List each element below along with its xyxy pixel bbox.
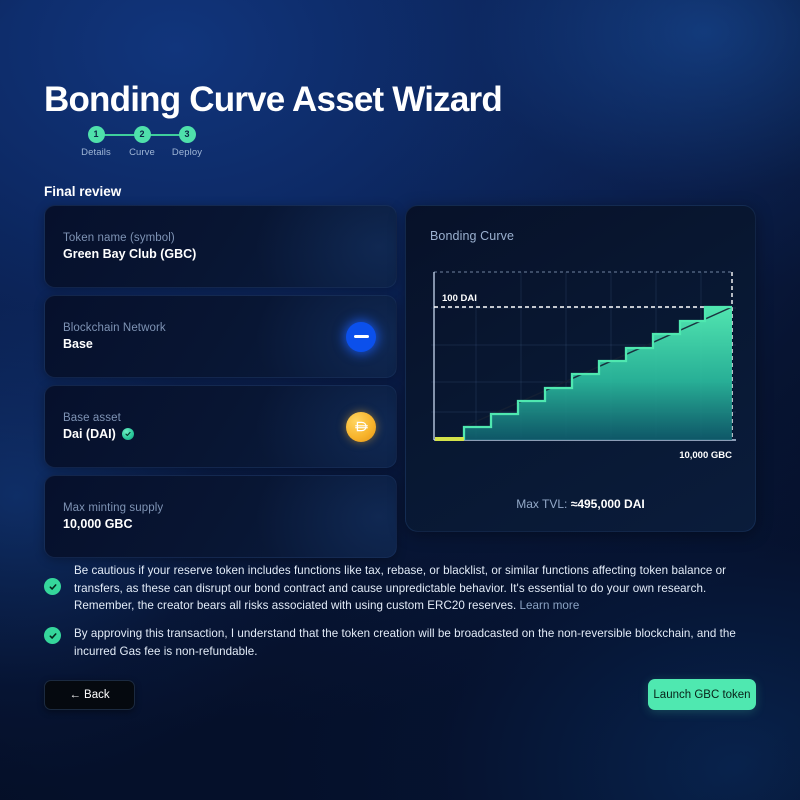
- review-card-token-name-value: Green Bay Club (GBC): [63, 247, 196, 261]
- stepper-step-2-number: 2: [134, 126, 151, 143]
- max-tvl-value: ≈495,000 DAI: [571, 497, 645, 511]
- review-card-blockchain-network[interactable]: Blockchain Network Base: [44, 295, 397, 378]
- bonding-curve-panel: Bonding Curve: [405, 205, 756, 532]
- bonding-curve-chart: 100 DAI 10,000 GBC: [406, 260, 756, 475]
- stepper-step-1-number: 1: [88, 126, 105, 143]
- chart-x-axis-label: 10,000 GBC: [679, 450, 732, 461]
- wizard-page: Bonding Curve Asset Wizard 1 Details 2 C…: [0, 0, 800, 800]
- review-card-max-supply-label: Max minting supply: [63, 502, 163, 514]
- verified-badge-icon: [122, 428, 134, 440]
- review-card-base-asset-label: Base asset: [63, 412, 134, 424]
- section-heading-final-review: Final review: [44, 184, 121, 199]
- launch-token-button[interactable]: Launch GBC token: [648, 679, 756, 710]
- dai-coin-icon: [346, 412, 376, 442]
- max-tvl-readout: Max TVL: ≈495,000 DAI: [406, 497, 755, 511]
- chart-y-axis-label: 100 DAI: [442, 293, 477, 304]
- chart-title: Bonding Curve: [430, 229, 514, 243]
- checkbox-checked-icon-approval[interactable]: [44, 627, 61, 644]
- review-card-max-supply-value: 10,000 GBC: [63, 517, 163, 531]
- checkbox-checked-icon-risk[interactable]: [44, 578, 61, 595]
- review-cards-list: Token name (symbol) Green Bay Club (GBC)…: [44, 205, 397, 565]
- consent-row-risk-disclaimer[interactable]: Be cautious if your reserve token includ…: [44, 562, 758, 615]
- consent-row-transaction-approval[interactable]: By approving this transaction, I underst…: [44, 625, 758, 660]
- consent-text-approval: By approving this transaction, I underst…: [74, 625, 758, 660]
- base-chain-icon: [346, 322, 376, 352]
- consent-text-risk-body: Be cautious if your reserve token includ…: [74, 564, 726, 612]
- review-card-token-name-label: Token name (symbol): [63, 232, 196, 244]
- back-button[interactable]: ← Back: [44, 680, 135, 710]
- review-card-network-value: Base: [63, 337, 166, 351]
- review-card-network-label: Blockchain Network: [63, 322, 166, 334]
- bonding-curve-svg: 100 DAI 10,000 GBC: [406, 260, 756, 475]
- wizard-stepper: 1 Details 2 Curve 3 Deploy: [44, 126, 224, 164]
- stepper-step-3-number: 3: [179, 126, 196, 143]
- consent-text-risk: Be cautious if your reserve token includ…: [74, 562, 758, 615]
- learn-more-link[interactable]: Learn more: [520, 599, 580, 612]
- stepper-step-deploy[interactable]: 3 Deploy: [164, 126, 210, 158]
- stepper-step-1-label: Details: [73, 147, 119, 158]
- max-tvl-label: Max TVL:: [516, 497, 567, 511]
- page-title: Bonding Curve Asset Wizard: [44, 80, 502, 120]
- review-card-token-name[interactable]: Token name (symbol) Green Bay Club (GBC): [44, 205, 397, 288]
- stepper-step-curve[interactable]: 2 Curve: [119, 126, 165, 158]
- stepper-step-3-label: Deploy: [164, 147, 210, 158]
- review-card-base-asset-value-wrap: Dai (DAI): [63, 427, 134, 441]
- review-card-max-supply[interactable]: Max minting supply 10,000 GBC: [44, 475, 397, 558]
- review-card-base-asset[interactable]: Base asset Dai (DAI): [44, 385, 397, 468]
- stepper-step-2-label: Curve: [119, 147, 165, 158]
- review-card-base-asset-value: Dai (DAI): [63, 427, 116, 441]
- stepper-step-details[interactable]: 1 Details: [73, 126, 119, 158]
